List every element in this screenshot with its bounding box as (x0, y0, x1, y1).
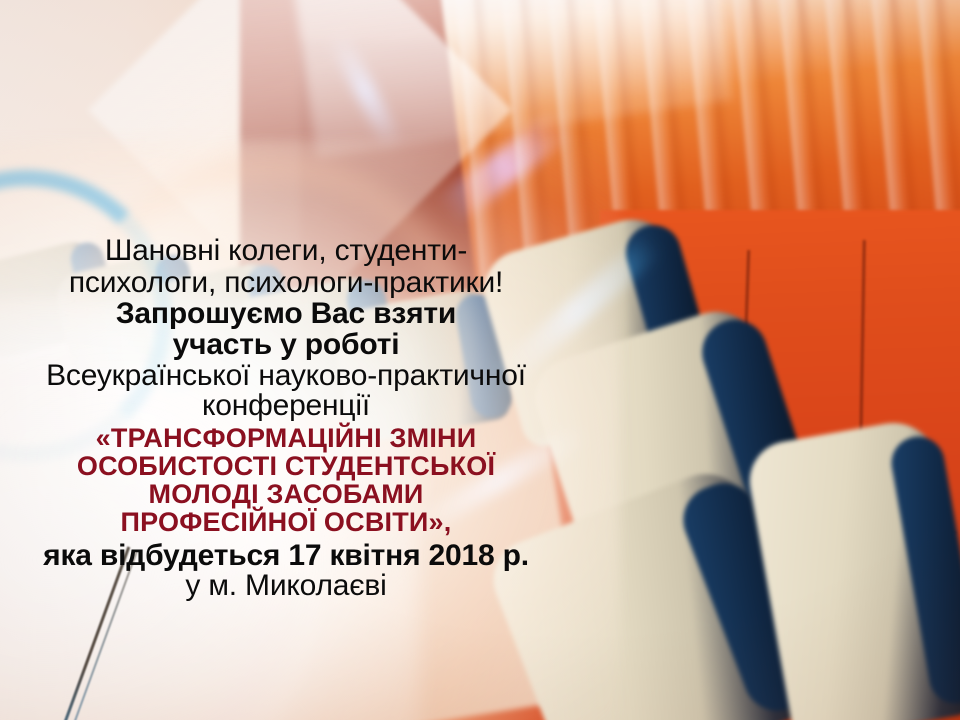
greeting-line-2: психологи, психологи-практики! (0, 268, 572, 299)
conference-title-line-4: ПРОФЕСІЙНОЇ ОСВІТИ», (0, 509, 572, 537)
conference-title-line-2: ОСОБИСТОСТІ СТУДЕНТСЬКОЇ (0, 453, 572, 481)
event-date-line: яка відбудеться 17 квітня 2018 р. (0, 541, 572, 572)
conference-kind-line-1: Всеукраїнської науково-практичної (0, 361, 572, 392)
conference-title-line-1: «ТРАНСФОРМАЦІЙНІ ЗМІНИ (0, 425, 572, 453)
conference-title-line-3: МОЛОДІ ЗАСОБАМИ (0, 481, 572, 509)
invitation-line-1: Запрошуємо Вас взяти (0, 299, 572, 330)
invitation-line-2: участь у роботі (0, 330, 572, 361)
greeting-line-1: Шановні колеги, студенти- (0, 236, 572, 267)
presentation-slide: Шановні колеги, студенти- психологи, пси… (0, 0, 960, 720)
event-city-line: у м. Миколаєві (0, 571, 572, 602)
conference-kind-line-2: конференції (0, 391, 572, 422)
slide-text-block: Шановні колеги, студенти- психологи, пси… (0, 236, 572, 602)
